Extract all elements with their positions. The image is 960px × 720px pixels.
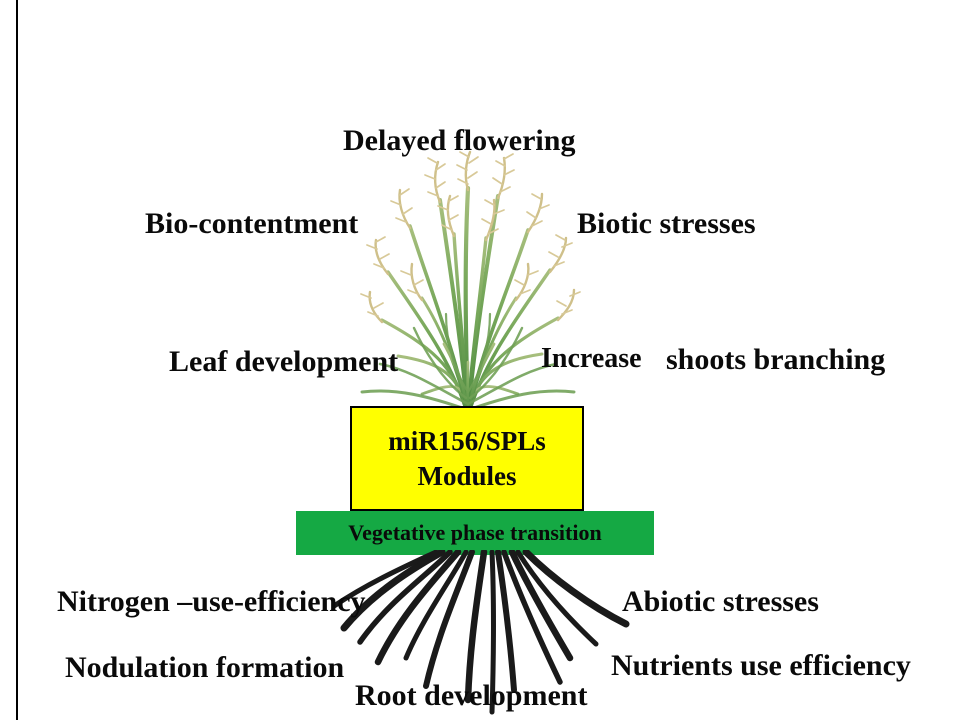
module-box-line-2: Modules: [417, 463, 516, 490]
label-nitrogen-use-efficiency: Nitrogen –use-efficiency: [57, 587, 366, 617]
transition-box-label: Vegetative phase transition: [348, 522, 601, 544]
diagram-canvas: miR156/SPLs Modules Vegetative phase tra…: [0, 0, 960, 720]
label-abiotic-stresses: Abiotic stresses: [622, 587, 819, 617]
plant-stems: [382, 188, 558, 416]
left-border-line: [16, 0, 18, 720]
label-shoots-branching: shoots branching: [666, 345, 885, 375]
label-leaf-development: Leaf development: [169, 347, 398, 377]
label-biotic-stresses: Biotic stresses: [577, 209, 756, 239]
mir156-spls-module-box[interactable]: miR156/SPLs Modules: [350, 406, 584, 511]
label-delayed-flowering: Delayed flowering: [343, 126, 575, 156]
plant-panicles: [361, 152, 580, 322]
label-nodulation-formation: Nodulation formation: [65, 653, 344, 683]
label-nutrients-use-efficiency: Nutrients use efficiency: [611, 651, 911, 681]
label-increase: Increase: [541, 345, 642, 373]
label-bio-contentment: Bio-contentment: [145, 209, 358, 239]
label-root-development: Root development: [355, 681, 587, 711]
module-box-line-1: miR156/SPLs: [388, 428, 546, 455]
vegetative-phase-transition-box[interactable]: Vegetative phase transition: [296, 511, 654, 555]
